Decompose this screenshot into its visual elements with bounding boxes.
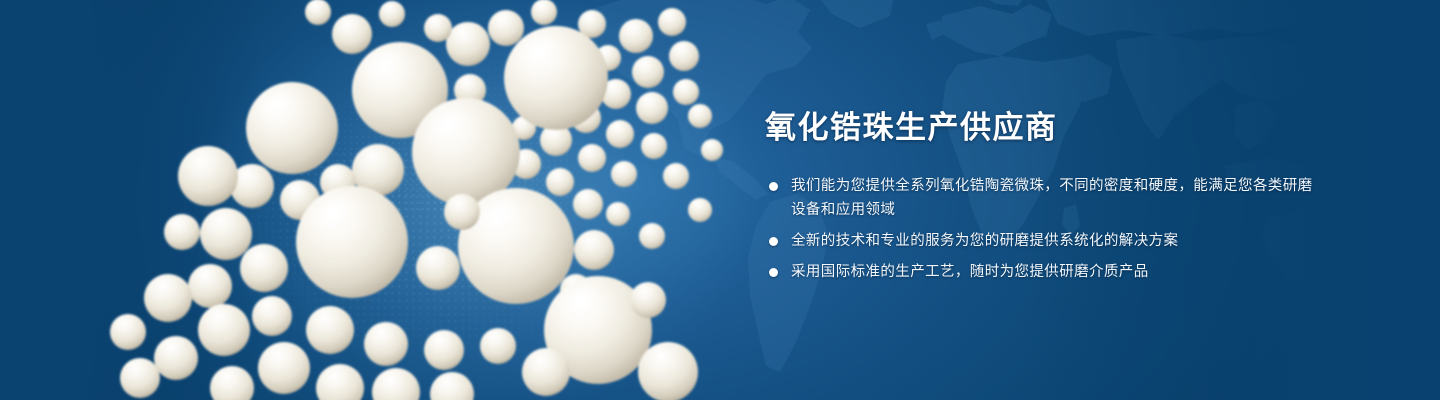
bullet-dot-icon bbox=[769, 268, 778, 277]
list-item-text: 采用国际标准的生产工艺，随时为您提供研磨介质产品 bbox=[791, 264, 1149, 280]
list-item-text: 我们能为您提供全系列氧化锆陶瓷微珠，不同的密度和硬度，能满足您各类研磨设备和应用… bbox=[791, 178, 1313, 218]
hero-banner: 氧化锆珠生产供应商 我们能为您提供全系列氧化锆陶瓷微珠，不同的密度和硬度，能满足… bbox=[0, 0, 1440, 400]
bullet-dot-icon bbox=[769, 182, 778, 191]
left-edge-fade bbox=[0, 0, 260, 400]
list-item: 采用国际标准的生产工艺，随时为您提供研磨介质产品 bbox=[765, 260, 1325, 284]
list-item-text: 全新的技术和专业的服务为您的研磨提供系统化的解决方案 bbox=[791, 233, 1178, 249]
banner-copy: 氧化锆珠生产供应商 我们能为您提供全系列氧化锆陶瓷微珠，不同的密度和硬度，能满足… bbox=[765, 108, 1325, 284]
page-title: 氧化锆珠生产供应商 bbox=[765, 108, 1325, 148]
list-item: 全新的技术和专业的服务为您的研磨提供系统化的解决方案 bbox=[765, 229, 1325, 253]
feature-list: 我们能为您提供全系列氧化锆陶瓷微珠，不同的密度和硬度，能满足您各类研磨设备和应用… bbox=[765, 174, 1325, 284]
list-item: 我们能为您提供全系列氧化锆陶瓷微珠，不同的密度和硬度，能满足您各类研磨设备和应用… bbox=[765, 174, 1325, 222]
bullet-dot-icon bbox=[769, 237, 778, 246]
